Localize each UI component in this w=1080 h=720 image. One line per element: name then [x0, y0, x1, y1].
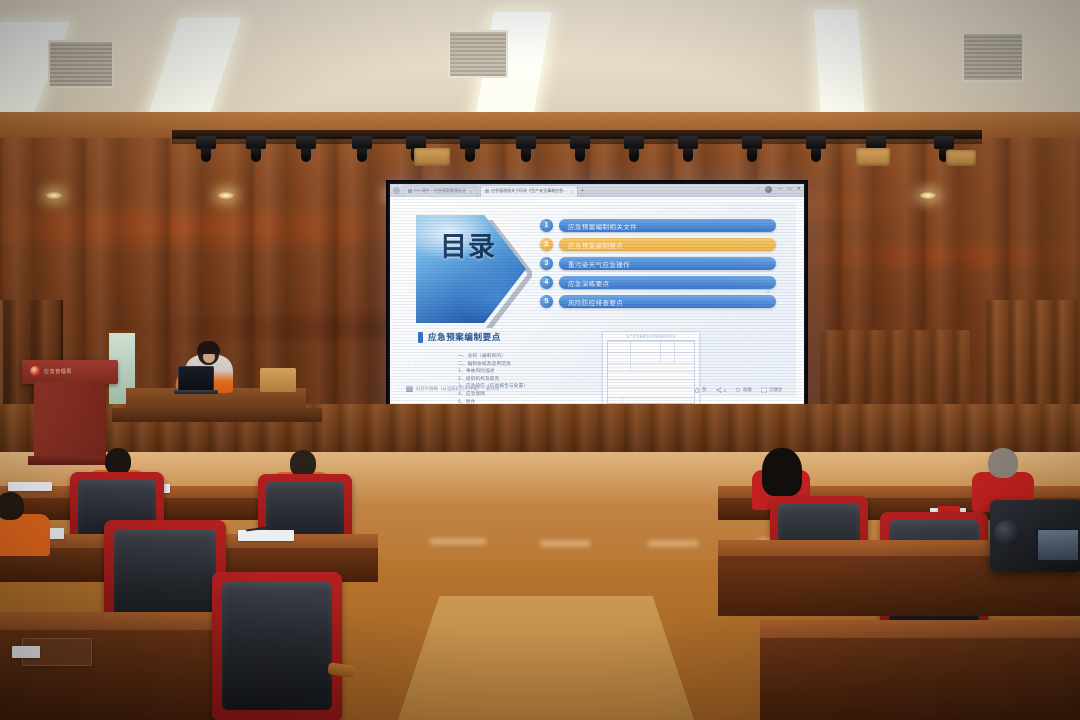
screen-content: PPT课件－应急预案管理办法 × 应急管理部关于印发《生产安全事故应急... ×… — [390, 184, 804, 428]
wall-downlight — [920, 192, 936, 199]
video-camera — [990, 500, 1080, 572]
browser-page: 目录 1 应急预案编制相关文件 2 应急预案编制要点 3 — [390, 197, 804, 428]
restore-icon[interactable]: ▭ — [787, 187, 792, 192]
stage-spotlight — [624, 136, 644, 149]
reaction-bar: 赞 2 收藏 可播放 — [694, 387, 782, 393]
form-preview-image: 生产安全事故应急预案备案登记表 — [602, 331, 700, 409]
account-icon[interactable] — [765, 186, 772, 193]
desk-row-frontmost-right-front — [760, 638, 1080, 720]
paper — [12, 646, 40, 658]
stage-light-housing — [856, 148, 890, 166]
desk-box — [260, 368, 296, 392]
led-display-screen: PPT课件－应急预案管理办法 × 应急管理部关于印发《生产安全事故应急... ×… — [386, 180, 808, 432]
minimize-icon[interactable]: — — [777, 187, 782, 192]
bullet-item: 2、组织机构及职责 — [458, 376, 608, 384]
reaction-count: 2 — [724, 388, 726, 393]
air-vent — [962, 32, 1024, 82]
head — [105, 448, 131, 475]
chair-cushion — [222, 582, 331, 709]
toc-item[interactable]: 5 风险防控排查要点 — [540, 295, 776, 308]
attendee-left-edge — [0, 492, 54, 554]
close-icon[interactable]: × — [570, 189, 572, 194]
share-button[interactable]: 2 — [716, 387, 726, 393]
bullet-item: 4、应急保障 — [458, 391, 608, 399]
close-icon[interactable]: × — [470, 189, 472, 194]
wall-downlight — [46, 192, 62, 199]
head-with-long-hair — [762, 448, 802, 496]
slide-page-number: 12 — [766, 289, 770, 294]
stage-spotlight — [460, 136, 480, 149]
floor-light-reflection — [540, 540, 590, 547]
toc-label: 应急演练要点 — [559, 276, 776, 289]
window-controls: ⋯ — ▭ ✕ — [755, 186, 801, 193]
reaction-count: 收藏 — [743, 387, 752, 393]
stage-light-housing — [414, 148, 450, 166]
stage-spotlight — [296, 136, 316, 149]
toc-number: 2 — [540, 238, 553, 251]
bullet-item: 1、事故风险描述 — [458, 368, 608, 376]
podium-label: 应急管理局 — [44, 368, 72, 375]
heart-icon — [735, 387, 741, 393]
stage-spotlight — [516, 136, 536, 149]
presenter-desk-front — [112, 408, 322, 422]
reaction-count: 可播放 — [769, 387, 782, 393]
head — [988, 448, 1018, 478]
slide-bullet-list: 一、总则（编制目的） 二、编制依据及适用范围 1、事故风险描述 2、组织机构及职… — [458, 353, 608, 406]
slide-mode-icon[interactable] — [406, 386, 413, 392]
toc-number: 5 — [540, 295, 553, 308]
slide-footer-text: 幻灯片放映（从当前幻灯片开始） · 第12页 — [416, 386, 499, 392]
ceiling — [0, 0, 1080, 118]
toc-item-active[interactable]: 2 应急预案编制要点 — [540, 238, 776, 251]
camera-lcd-screen — [1036, 528, 1080, 562]
air-vent — [448, 30, 508, 78]
toc-number: 1 — [540, 219, 553, 232]
toc-number: 3 — [540, 257, 553, 270]
browser-tab-bar: PPT课件－应急预案管理办法 × 应急管理部关于印发《生产安全事故应急... ×… — [390, 184, 804, 197]
stage-spotlight — [934, 136, 954, 149]
stage-spotlight — [196, 136, 216, 149]
head — [290, 450, 316, 477]
thumbs-up-button[interactable]: 赞 — [694, 387, 706, 393]
fullscreen-button[interactable]: 可播放 — [761, 387, 782, 393]
browser-tab-2[interactable]: 应急管理部关于印发《生产安全事故应急... × — [480, 185, 578, 197]
stage-spotlight — [742, 136, 762, 149]
air-vent — [48, 40, 114, 88]
bullet-item: 二、编制依据及适用范围 — [458, 361, 608, 369]
browser-menu-dot[interactable] — [393, 187, 400, 194]
presentation-slide: 目录 1 应急预案编制相关文件 2 应急预案编制要点 3 — [398, 203, 796, 396]
national-emblem-icon — [30, 366, 40, 376]
bullet-item: 一、总则（编制目的） — [458, 353, 608, 361]
toc-number: 4 — [540, 276, 553, 289]
slide-footer: 幻灯片放映（从当前幻灯片开始） · 第12页 — [406, 386, 499, 392]
toc-item[interactable]: 3 重污染天气应急操作 — [540, 257, 776, 270]
share-icon — [716, 387, 722, 393]
close-icon[interactable]: ✕ — [797, 187, 801, 192]
notebook — [238, 530, 294, 541]
toc-label: 风险防控排查要点 — [559, 295, 776, 308]
toc-item[interactable]: 4 应急演练要点 — [540, 276, 776, 289]
stage-spotlight — [570, 136, 590, 149]
floor-light-reflection — [430, 538, 486, 545]
favorite-button[interactable]: 收藏 — [735, 387, 752, 393]
toc-label: 应急预案编制相关文件 — [559, 219, 776, 232]
reaction-count: 赞 — [702, 387, 706, 393]
contents-title: 目录 — [440, 231, 496, 264]
browser-tab-1[interactable]: PPT课件－应急预案管理办法 × — [403, 185, 477, 197]
presenter-laptop[interactable] — [178, 366, 214, 393]
toc-label: 应急预案编制要点 — [559, 238, 776, 251]
section-heading: 应急预案编制要点 — [418, 331, 501, 343]
stage-spotlight — [246, 136, 266, 149]
section-marker — [418, 332, 423, 343]
tab-title: PPT课件－应急预案管理办法 — [414, 188, 466, 194]
table-of-contents: 1 应急预案编制相关文件 2 应急预案编制要点 3 重污染天气应急操作 4 — [540, 219, 776, 314]
stage-spotlight — [352, 136, 372, 149]
conference-room-photo: PPT课件－应急预案管理办法 × 应急管理部关于印发《生产安全事故应急... ×… — [0, 0, 1080, 720]
notebook — [8, 482, 52, 491]
section-title: 应急预案编制要点 — [428, 331, 501, 343]
stage-spotlight — [806, 136, 826, 149]
page-icon — [485, 189, 489, 193]
form-title: 生产安全事故应急预案备案登记表 — [603, 334, 699, 338]
stage-light-housing — [946, 150, 976, 166]
vest — [0, 514, 50, 556]
chair-front-center[interactable] — [212, 572, 342, 720]
doc-icon — [408, 189, 412, 193]
center-aisle-carpet — [398, 596, 694, 720]
form-grid — [607, 340, 695, 404]
camera-lens-icon — [994, 520, 1020, 546]
thumbs-up-icon — [694, 387, 700, 393]
stage-spotlight — [678, 136, 698, 149]
laptop-base — [174, 390, 218, 394]
attendee-far-right — [972, 448, 1038, 508]
wall-downlight — [218, 192, 234, 199]
toc-item[interactable]: 1 应急预案编制相关文件 — [540, 219, 776, 232]
presenter-hair — [197, 341, 220, 354]
floor-light-reflection — [648, 540, 698, 547]
contents-chevron-graphic: 目录 — [416, 215, 526, 323]
tab-title: 应急管理部关于印发《生产安全事故应急... — [491, 188, 566, 194]
head — [0, 492, 24, 520]
new-tab-button[interactable]: + — [581, 188, 584, 194]
toc-label: 重污染天气应急操作 — [559, 257, 776, 270]
extensions-icon[interactable]: ⋯ — [755, 187, 760, 192]
fullscreen-icon — [761, 387, 767, 393]
